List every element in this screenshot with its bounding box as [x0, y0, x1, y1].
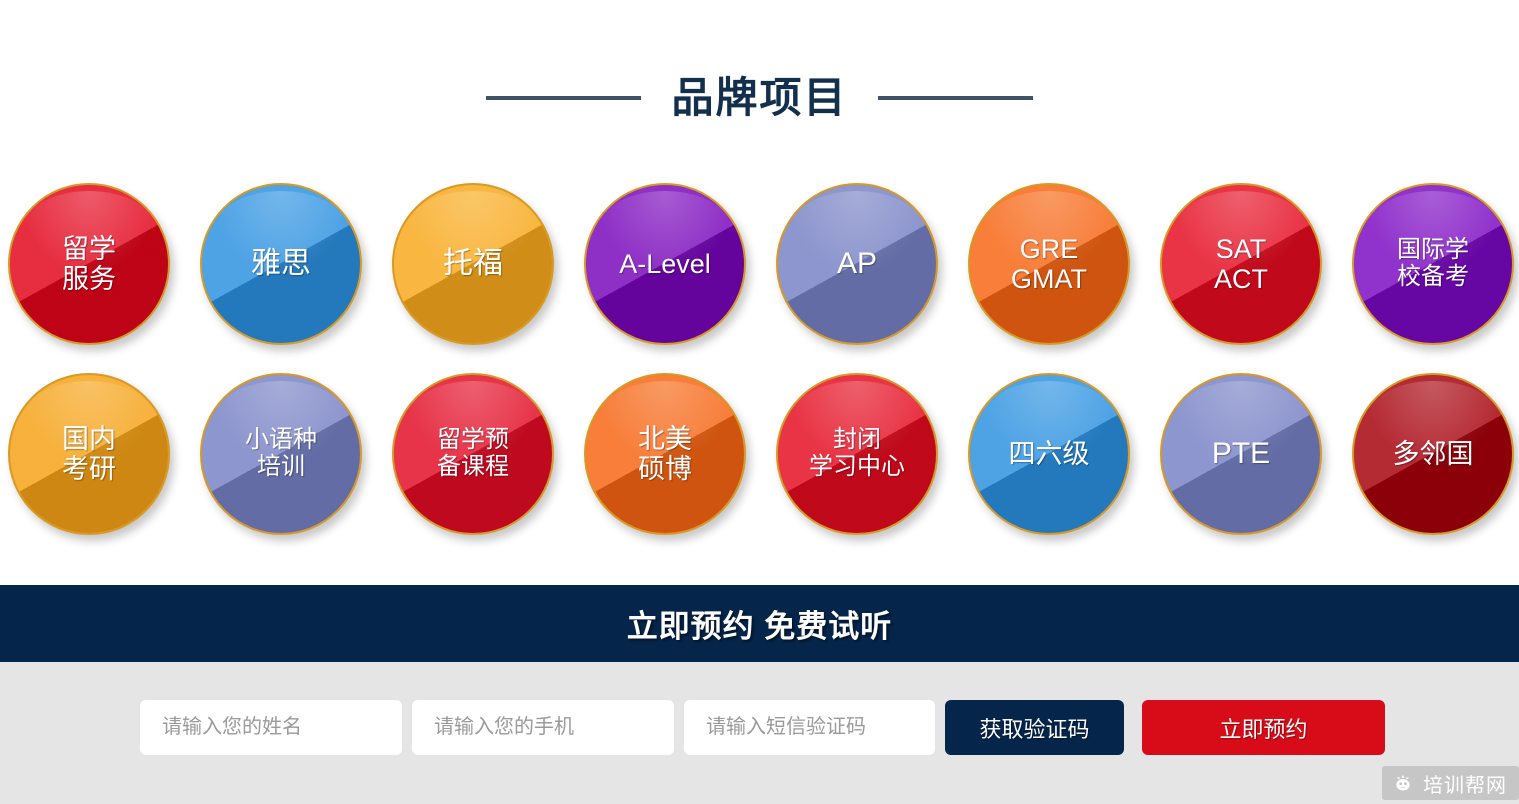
site-watermark: 培训帮网: [1382, 766, 1519, 800]
title-rule-right: [878, 96, 1033, 100]
program-bubble[interactable]: PTE: [1160, 373, 1322, 535]
lead-form-strip: 获取验证码 立即预约: [0, 662, 1519, 804]
program-bubble[interactable]: GRE GMAT: [968, 183, 1130, 345]
phone-input[interactable]: [412, 700, 674, 755]
program-bubble-label: A-Level: [611, 249, 719, 279]
lead-form: 获取验证码 立即预约: [140, 700, 1385, 755]
get-code-button[interactable]: 获取验证码: [945, 700, 1124, 755]
program-bubble-label: 封闭 学习中心: [801, 427, 913, 481]
program-bubble-label: 留学预 备课程: [429, 427, 517, 481]
program-bubble-label: GRE GMAT: [1003, 234, 1095, 294]
program-bubble[interactable]: 四六级: [968, 373, 1130, 535]
cta-banner-text: 立即预约 免费试听: [627, 601, 893, 646]
program-bubble[interactable]: A-Level: [584, 183, 746, 345]
cta-banner: 立即预约 免费试听: [0, 585, 1519, 662]
program-bubble[interactable]: 雅思: [200, 183, 362, 345]
page-title: 品牌项目: [671, 77, 847, 119]
program-bubble[interactable]: 封闭 学习中心: [776, 373, 938, 535]
program-bubble[interactable]: 小语种 培训: [200, 373, 362, 535]
program-row-2: 国内 考研小语种 培训留学预 备课程北美 硕博封闭 学习中心四六级PTE多邻国: [8, 373, 1512, 535]
program-bubble-label: 留学 服务: [54, 234, 124, 294]
name-input[interactable]: [140, 700, 402, 755]
program-row-1: 留学 服务雅思托福A-LevelAPGRE GMATSAT ACT国际学 校备考: [8, 183, 1512, 345]
program-bubble-label: 雅思: [243, 247, 319, 281]
sms-code-input[interactable]: [684, 700, 935, 755]
watermark-label: 培训帮网: [1423, 769, 1507, 798]
program-bubble[interactable]: 国内 考研: [8, 373, 170, 535]
program-bubble-label: PTE: [1204, 437, 1278, 471]
program-grid: 留学 服务雅思托福A-LevelAPGRE GMATSAT ACT国际学 校备考…: [8, 183, 1512, 563]
program-bubble[interactable]: SAT ACT: [1160, 183, 1322, 345]
title-rule-left: [486, 96, 641, 100]
program-bubble[interactable]: 留学 服务: [8, 183, 170, 345]
section-title-row: 品牌项目: [0, 58, 1519, 138]
program-bubble-label: AP: [829, 247, 885, 281]
program-bubble[interactable]: AP: [776, 183, 938, 345]
program-bubble-label: 北美 硕博: [630, 424, 700, 484]
program-bubble[interactable]: 国际学 校备考: [1352, 183, 1514, 345]
program-bubble-label: 国内 考研: [54, 424, 124, 484]
program-bubble[interactable]: 托福: [392, 183, 554, 345]
submit-booking-button[interactable]: 立即预约: [1142, 700, 1385, 755]
program-bubble[interactable]: 多邻国: [1352, 373, 1514, 535]
program-bubble-label: SAT ACT: [1206, 234, 1276, 294]
program-bubble-label: 国际学 校备考: [1389, 237, 1477, 291]
program-bubble-label: 多邻国: [1385, 439, 1482, 469]
program-bubble[interactable]: 留学预 备课程: [392, 373, 554, 535]
program-bubble-label: 托福: [435, 247, 511, 281]
sun-face-icon: [1392, 772, 1414, 794]
program-bubble-label: 四六级: [1001, 439, 1098, 469]
program-bubble-label: 小语种 培训: [237, 427, 325, 481]
program-bubble[interactable]: 北美 硕博: [584, 373, 746, 535]
